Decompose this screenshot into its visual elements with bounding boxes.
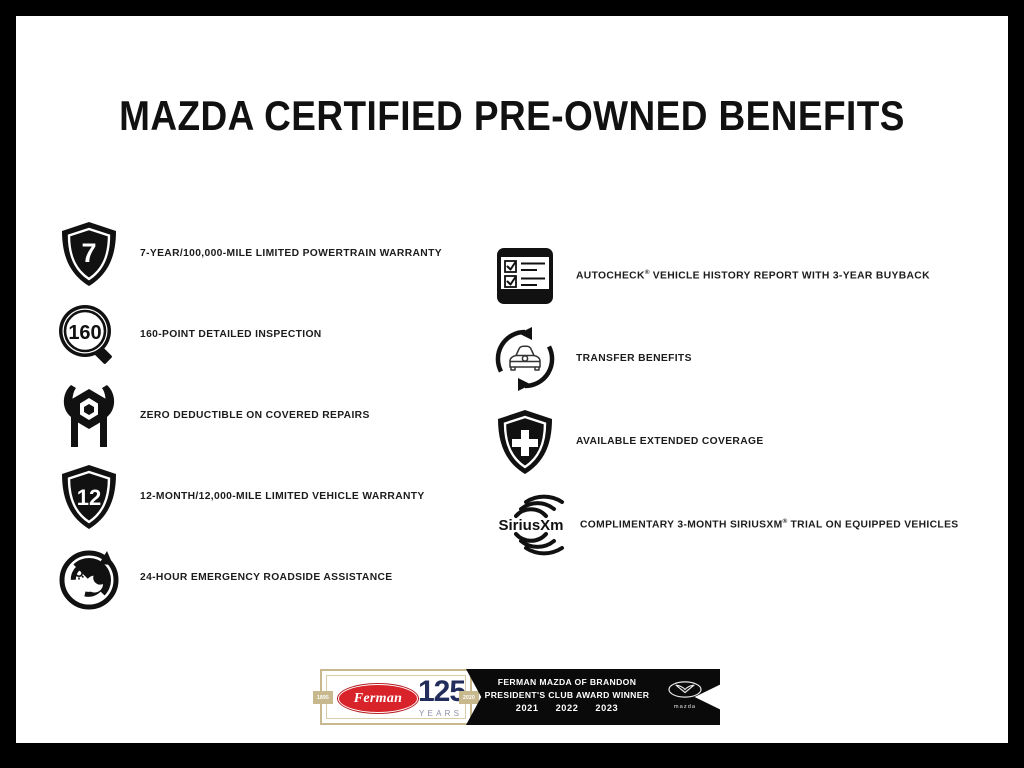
award-line-2: PRESIDENT'S CLUB AWARD WINNER: [482, 689, 652, 702]
benefit-label: 160-POINT DETAILED INSPECTION: [140, 329, 510, 340]
award-year: 2022: [556, 702, 579, 715]
poster-frame: MAZDA CERTIFIED PRE-OWNED BENEFITS 7 7-Y…: [0, 0, 1024, 768]
benefit-label: AUTOCHECK® VEHICLE HISTORY REPORT WITH 3…: [576, 269, 1006, 281]
benefit-item-powertrain-warranty: 7 7-YEAR/100,000-MILE LIMITED POWERTRAIN…: [50, 216, 510, 291]
benefit-label-text-tail: VEHICLE HISTORY REPORT WITH 3-YEAR BUYBA…: [650, 271, 930, 282]
benefit-label: AVAILABLE EXTENDED COVERAGE: [576, 436, 1006, 447]
magnifier-160-icon: 160: [50, 297, 128, 372]
ferman-script-name: Ferman: [339, 685, 417, 712]
car-transfer-icon: [486, 321, 564, 396]
award-years: 2021 2022 2023: [482, 702, 652, 715]
checklist-report-icon: [486, 238, 564, 313]
benefit-item-160-point-inspection: 160 160-POINT DETAILED INSPECTION: [50, 297, 510, 372]
footer-banner: Ferman 125 YEARS 1895 2020 FERMAN MAZDA …: [320, 669, 720, 725]
ferman-125-logo: Ferman 125 YEARS 1895 2020: [320, 669, 472, 725]
benefit-label: COMPLIMENTARY 3-MONTH SIRIUSXM® TRIAL ON…: [580, 518, 1006, 530]
benefit-label-text: COMPLIMENTARY 3-MONTH SIRIUSXM: [580, 520, 783, 531]
poster-canvas: MAZDA CERTIFIED PRE-OWNED BENEFITS 7 7-Y…: [16, 16, 1008, 743]
benefit-label-text-tail: TRIAL ON EQUIPPED VEHICLES: [787, 520, 958, 531]
benefit-label: 24-HOUR EMERGENCY ROADSIDE ASSISTANCE: [140, 572, 510, 583]
benefit-item-autocheck-report: AUTOCHECK® VEHICLE HISTORY REPORT WITH 3…: [486, 238, 1006, 313]
benefit-label: ZERO DEDUCTIBLE ON COVERED REPAIRS: [140, 410, 510, 421]
benefit-item-siriusxm-trial: SiriusXm COMPLIMENTARY 3-MONTH SIRIUSXM®…: [486, 487, 1006, 562]
shield-7-icon: 7: [50, 216, 128, 291]
benefit-item-vehicle-warranty: 12 12-MONTH/12,000-MILE LIMITED VEHICLE …: [50, 459, 510, 534]
ferman-years-word: YEARS: [419, 709, 462, 718]
siriusxm-icon: SiriusXm: [486, 487, 576, 562]
benefits-left-column: 7 7-YEAR/100,000-MILE LIMITED POWERTRAIN…: [50, 216, 510, 621]
award-year: 2021: [516, 702, 539, 715]
benefit-label-text: AVAILABLE EXTENDED COVERAGE: [576, 436, 764, 447]
benefit-label-text: AUTOCHECK: [576, 271, 645, 282]
mazda-wordmark: mazda: [662, 704, 708, 710]
ferman-anniversary-number: 125: [418, 677, 465, 707]
award-line-1: FERMAN MAZDA OF BRANDON: [482, 676, 652, 689]
benefit-label: 12-MONTH/12,000-MILE LIMITED VEHICLE WAR…: [140, 491, 510, 502]
award-year: 2023: [595, 702, 618, 715]
day-night-arrow-icon: [50, 540, 128, 615]
shield-badge-number: 7: [81, 238, 96, 268]
siriusxm-wordmark: SiriusXm: [498, 517, 563, 534]
ferman-tab-end-year: 2020: [459, 691, 479, 704]
shield-badge-number: 12: [77, 485, 101, 510]
benefit-item-extended-coverage: AVAILABLE EXTENDED COVERAGE: [486, 404, 1006, 479]
mazda-logo: mazda: [662, 681, 708, 710]
wrench-icon: [50, 378, 128, 453]
award-ribbon: FERMAN MAZDA OF BRANDON PRESIDENT'S CLUB…: [466, 669, 720, 725]
magnifier-badge-number: 160: [68, 322, 101, 344]
benefit-item-transfer-benefits: TRANSFER BENEFITS: [486, 321, 1006, 396]
page-title: MAZDA CERTIFIED PRE-OWNED BENEFITS: [76, 92, 949, 140]
shield-plus-icon: [486, 404, 564, 479]
benefits-right-column: AUTOCHECK® VEHICLE HISTORY REPORT WITH 3…: [486, 238, 1006, 570]
ferman-tab-start-year: 1895: [313, 691, 333, 704]
benefit-label-text: TRANSFER BENEFITS: [576, 353, 692, 364]
shield-12-icon: 12: [50, 459, 128, 534]
benefit-label: 7-YEAR/100,000-MILE LIMITED POWERTRAIN W…: [140, 248, 510, 259]
benefit-label: TRANSFER BENEFITS: [576, 353, 1006, 364]
benefit-item-roadside-assistance: 24-HOUR EMERGENCY ROADSIDE ASSISTANCE: [50, 540, 510, 615]
ferman-oval: Ferman: [338, 684, 418, 713]
benefit-item-zero-deductible: ZERO DEDUCTIBLE ON COVERED REPAIRS: [50, 378, 510, 453]
mazda-wings-icon: [668, 681, 702, 698]
award-text-block: FERMAN MAZDA OF BRANDON PRESIDENT'S CLUB…: [482, 676, 652, 715]
